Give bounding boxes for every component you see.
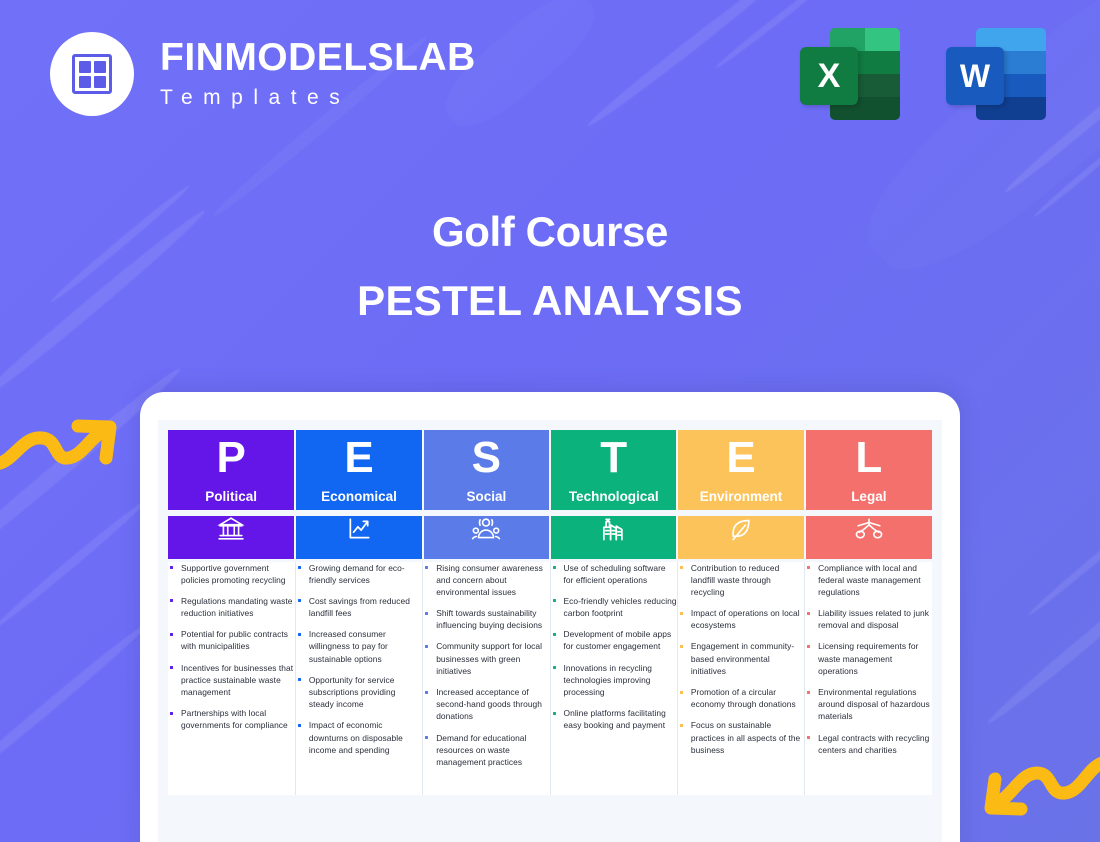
list-item: Impact of economic downturns on disposab…: [296, 719, 422, 756]
icon-cell-economical: [295, 516, 422, 560]
list-item: Environmental regulations around disposa…: [805, 686, 932, 723]
bullet-list-social: Rising consumer awareness and concern ab…: [423, 562, 549, 769]
bank-institution-icon: [216, 520, 246, 537]
list-item: Incentives for businesses that practice …: [168, 662, 295, 699]
list-item: Online platforms facilitating easy booki…: [551, 707, 677, 731]
icon-cell-social: [423, 516, 550, 560]
excel-icon: X: [800, 28, 900, 120]
list-item: Partnerships with local governments for …: [168, 707, 295, 731]
body-cell-technological: Use of scheduling software for efficient…: [550, 560, 677, 795]
label-economical: Economical: [296, 489, 421, 504]
label-technological: Technological: [551, 489, 676, 504]
logo-mark: [50, 32, 134, 116]
list-item: Focus on sustainable practices in all as…: [678, 719, 804, 756]
letter-e1: E: [296, 430, 421, 480]
title-analysis-type: PESTEL ANALYSIS: [0, 277, 1100, 325]
pestel-header-economical[interactable]: E Economical: [295, 430, 422, 510]
list-item: Shift towards sustainability influencing…: [423, 607, 549, 631]
body-cell-economical: Growing demand for eco-friendly services…: [295, 560, 422, 795]
pestel-header-legal[interactable]: L Legal: [805, 430, 932, 510]
list-item: Engagement in community-based environmen…: [678, 640, 804, 677]
list-item: Increased consumer willingness to pay fo…: [296, 628, 422, 665]
label-legal: Legal: [806, 489, 932, 504]
list-item: Supportive government policies promoting…: [168, 562, 295, 586]
pestel-header-technological[interactable]: T Technological: [550, 430, 677, 510]
pestel-icon-row: [168, 516, 932, 560]
list-item: Legal contracts with recycling centers a…: [805, 732, 932, 756]
poster-canvas: FINMODELSLAB Templates X W Golf Course P…: [0, 0, 1100, 842]
label-social: Social: [424, 489, 549, 504]
bullet-list-legal: Compliance with local and federal waste …: [805, 562, 932, 756]
bullet-list-economical: Growing demand for eco-friendly services…: [296, 562, 422, 756]
word-icon: W: [946, 28, 1046, 120]
list-item: Growing demand for eco-friendly services: [296, 562, 422, 586]
body-cell-political: Supportive government policies promoting…: [168, 560, 295, 795]
grid-square-icon: [72, 54, 112, 94]
body-cell-environment: Contribution to reduced landfill waste t…: [677, 560, 804, 795]
document-card: P Political E Economical S Social T Tech…: [140, 392, 960, 842]
format-badges: X W: [800, 28, 1046, 120]
excel-icon-letter: X: [800, 47, 858, 105]
body-cell-legal: Compliance with local and federal waste …: [805, 560, 932, 795]
document-sheet: P Political E Economical S Social T Tech…: [158, 420, 942, 842]
list-item: Impact of operations on local ecosystems: [678, 607, 804, 631]
list-item: Demand for educational resources on wast…: [423, 732, 549, 769]
pestel-body-row: Supportive government policies promoting…: [168, 560, 932, 795]
list-item: Opportunity for service subscriptions pr…: [296, 674, 422, 711]
list-item: Eco-friendly vehicles reducing carbon fo…: [551, 595, 677, 619]
list-item: Use of scheduling software for efficient…: [551, 562, 677, 586]
pestel-header-environment[interactable]: E Environment: [677, 430, 804, 510]
bullet-list-political: Supportive government policies promoting…: [168, 562, 295, 732]
letter-p: P: [168, 430, 294, 480]
list-item: Licensing requirements for waste managem…: [805, 640, 932, 677]
pestel-header-social[interactable]: S Social: [423, 430, 550, 510]
title-subject: Golf Course: [0, 208, 1100, 256]
line-chart-icon: [345, 520, 373, 537]
list-item: Innovations in recycling technologies im…: [551, 662, 677, 699]
list-item: Regulations mandating waste reduction in…: [168, 595, 295, 619]
list-item: Liability issues related to junk removal…: [805, 607, 932, 631]
bullet-list-technological: Use of scheduling software for efficient…: [551, 562, 677, 732]
pestel-table: P Political E Economical S Social T Tech…: [168, 430, 932, 795]
arrow-left-decoration: [0, 408, 127, 483]
people-group-icon: [471, 520, 501, 537]
icon-cell-environment: [677, 516, 804, 560]
list-item: Compliance with local and federal waste …: [805, 562, 932, 599]
body-cell-social: Rising consumer awareness and concern ab…: [423, 560, 550, 795]
list-item: Promotion of a circular economy through …: [678, 686, 804, 710]
arrow-right-decoration: [971, 751, 1100, 836]
label-environment: Environment: [678, 489, 803, 504]
letter-s: S: [424, 430, 549, 480]
brand-logo: FINMODELSLAB Templates: [50, 32, 476, 116]
letter-e2: E: [678, 430, 803, 480]
icon-cell-technological: [550, 516, 677, 560]
pestel-header-row: P Political E Economical S Social T Tech…: [168, 430, 932, 510]
list-item: Community support for local businesses w…: [423, 640, 549, 677]
list-item: Increased acceptance of second-hand good…: [423, 686, 549, 723]
word-icon-letter: W: [946, 47, 1004, 105]
letter-l: L: [806, 430, 932, 480]
leaf-icon: [727, 521, 755, 538]
brand-tagline: Templates: [160, 86, 476, 110]
scales-justice-icon: [854, 520, 884, 537]
bullet-list-environment: Contribution to reduced landfill waste t…: [678, 562, 804, 756]
list-item: Cost savings from reduced landfill fees: [296, 595, 422, 619]
icon-cell-political: [168, 516, 295, 560]
pestel-header-political[interactable]: P Political: [168, 430, 295, 510]
factory-industry-icon: [600, 521, 628, 538]
label-political: Political: [168, 489, 294, 504]
list-item: Potential for public contracts with muni…: [168, 628, 295, 652]
brand-name: FINMODELSLAB: [160, 38, 476, 77]
page-title: Golf Course PESTEL ANALYSIS: [0, 208, 1100, 325]
list-item: Rising consumer awareness and concern ab…: [423, 562, 549, 599]
list-item: Development of mobile apps for customer …: [551, 628, 677, 652]
letter-t: T: [551, 430, 676, 480]
list-item: Contribution to reduced landfill waste t…: [678, 562, 804, 599]
icon-cell-legal: [805, 516, 932, 560]
